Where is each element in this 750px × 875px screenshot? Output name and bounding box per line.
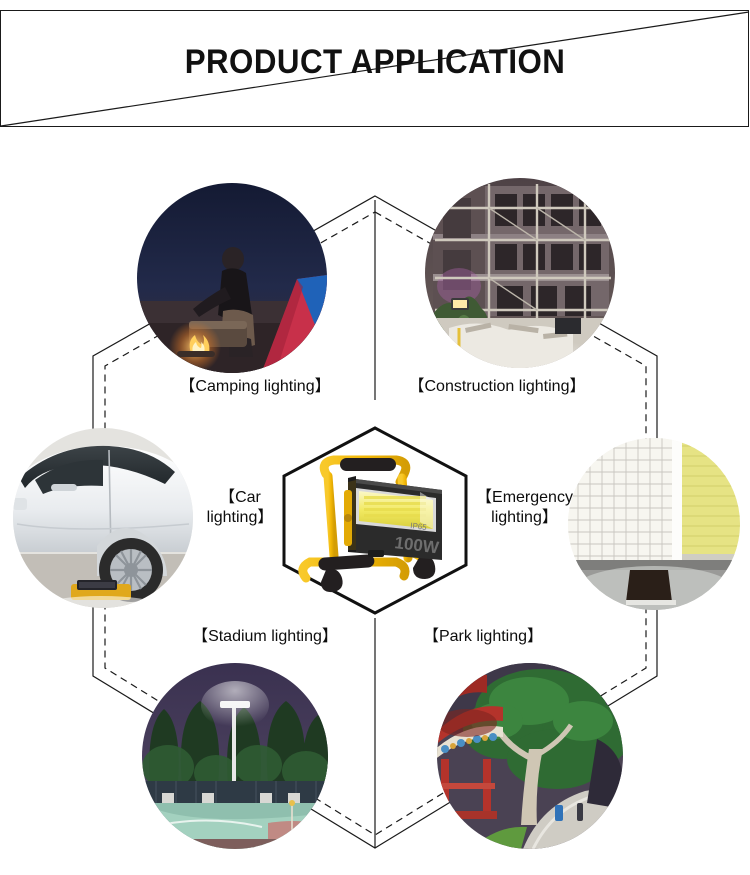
photo-circle-construction — [425, 178, 615, 368]
label-park: 【Park lighting】 — [388, 627, 578, 647]
photo-circle-car — [13, 428, 193, 608]
infographic-canvas: PRODUCT APPLICATION — [0, 0, 750, 875]
photo-circle-stadium — [142, 663, 328, 849]
photo-circle-camping — [137, 183, 327, 373]
photo-circle-emergency — [568, 438, 740, 610]
label-emergency: 【Emergency lighting】 — [462, 488, 587, 528]
photo-circle-park — [437, 663, 623, 849]
label-construction: 【Construction lighting】 — [382, 377, 612, 397]
label-car: 【Car lighting】 — [185, 488, 295, 528]
label-car-line2: lighting】 — [207, 509, 274, 526]
label-stadium: 【Stadium lighting】 — [160, 627, 370, 647]
center-product-image: 100W IP65 — [282, 432, 468, 602]
label-emergency-line1: 【Emergency — [476, 489, 573, 506]
label-camping: 【Camping lighting】 — [150, 377, 360, 397]
label-emergency-line2: lighting】 — [491, 509, 558, 526]
label-car-line1: 【Car — [219, 489, 261, 506]
